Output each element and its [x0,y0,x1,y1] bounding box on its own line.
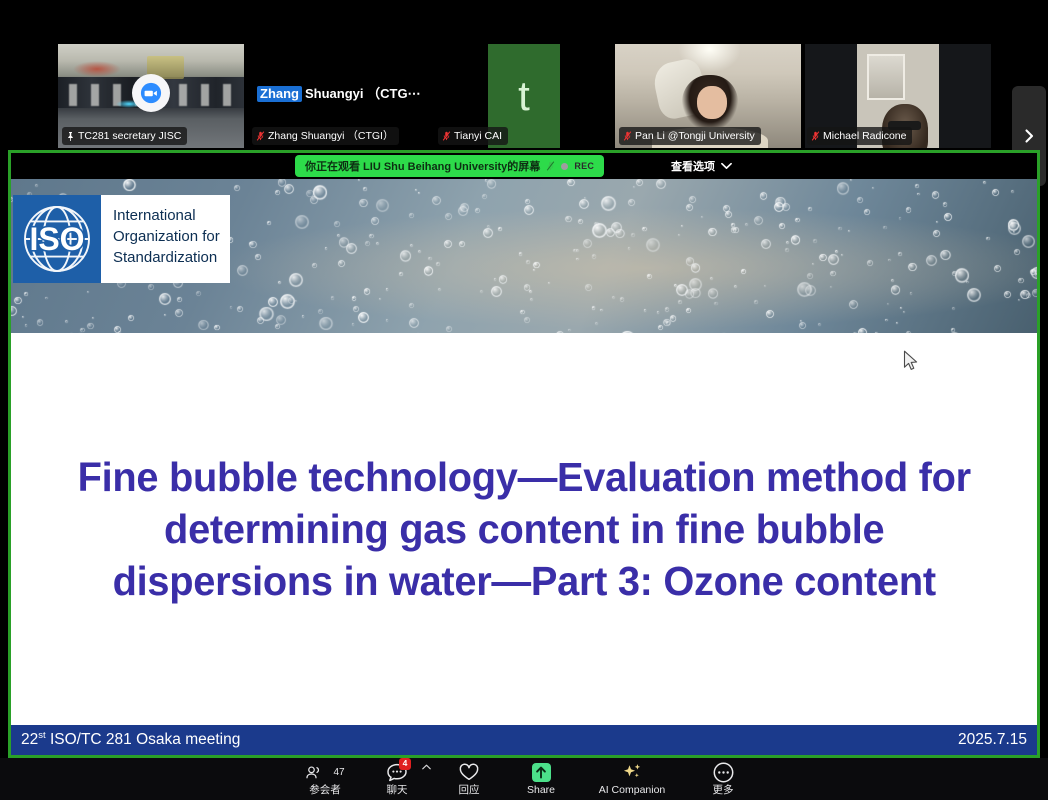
bubble [1020,290,1030,300]
video-filmstrip: TC281 secretary JISC Zhang Shuangyi （CTG… [0,40,1048,152]
bubble [295,300,297,302]
bubble [986,237,990,241]
toolbar-ai-companion-label: AI Companion [599,784,666,796]
bubble [302,315,304,317]
bubble [952,307,955,310]
mic-muted-icon [811,130,820,142]
bubble [674,284,677,287]
bubble [903,311,905,313]
iso-logo-mark: ISO [13,195,101,283]
bubble [601,196,616,211]
bubble [835,250,838,253]
bubble [459,241,465,247]
bubble [376,199,389,212]
bubble [936,221,938,223]
bubble [578,219,583,224]
bubble [795,218,799,222]
bubble [841,254,843,256]
tile-name-text: Tianyi CAI [454,129,502,143]
bubble [436,262,440,266]
bubble [400,250,411,261]
bubble [872,187,874,189]
bubble [249,242,252,245]
bubble [369,234,373,238]
bubble [867,260,873,266]
svg-text:ISO: ISO [29,221,84,257]
presentation-slide: ISO International Organization for Stand… [11,179,1037,755]
view-options-button[interactable]: 查看选项 [661,155,742,177]
bubble [331,296,334,299]
bubble [642,227,646,231]
bubble [339,237,350,248]
bubble [278,281,281,284]
bubble [480,290,483,293]
slide-footer-left: 22st ISO/TC 281 Osaka meeting [21,730,240,749]
active-speaker-name: Zhang Shuangyi （CTG⋯ [252,84,426,104]
bubble [733,227,739,233]
bubble [267,221,271,225]
slide-footer-date: 2025.7.15 [958,731,1027,749]
bubble [657,311,659,313]
bubble [628,199,636,207]
bubble [883,226,887,230]
bubble [708,288,718,298]
bubble [128,315,134,321]
bubble [237,306,243,312]
bubble [237,265,248,276]
zoom-meeting-window: TC281 secretary JISC Zhang Shuangyi （CTG… [0,0,1048,800]
bubble [520,310,524,314]
iso-logo: ISO International Organization for Stand… [13,195,230,283]
bubble [353,306,359,312]
bubble [926,255,937,266]
toolbar-reactions-label: 回应 [459,784,480,796]
bubble [899,217,902,220]
toolbar-more-label: 更多 [713,784,734,796]
bubble [409,318,419,328]
chat-unread-badge: 4 [399,758,411,770]
face [697,86,727,119]
bubble [631,233,635,237]
bubble [864,209,870,215]
bubble [644,309,646,311]
bubble [445,213,452,220]
bubble [994,265,1002,273]
bubble [494,278,497,281]
bubble [418,192,420,194]
bubble [665,307,670,312]
bubble [92,317,94,319]
bubble [14,297,21,304]
bubble [352,296,357,301]
bubble [992,189,999,196]
bubble [579,199,590,210]
bubble [310,196,318,204]
bubble [741,269,746,274]
slide-body: Fine bubble technology—Evaluation method… [11,333,1037,725]
bubble [710,277,714,281]
bubble [887,303,890,306]
bubble [519,252,523,256]
bubble [259,307,274,322]
bubble [1032,289,1037,297]
bubble [754,300,758,304]
bubble [1011,190,1014,193]
toolbar-reactions-button[interactable]: 回应 [433,758,505,800]
bubble [524,205,534,215]
bubble [334,221,341,228]
bubble [268,297,278,307]
bubble [656,179,666,189]
bubble [940,250,951,261]
video-tile-tc281-secretary[interactable]: TC281 secretary JISC [58,44,244,148]
bubble [850,179,852,181]
bubble [615,229,625,239]
bubble [87,291,89,293]
bubble [966,281,968,283]
bubble [363,187,367,191]
bubble [583,239,592,248]
video-tile-michael-radicone[interactable]: Michael Radicone [805,44,991,148]
bubble [906,207,912,213]
bubble [849,300,858,309]
chevron-up-icon[interactable] [422,764,431,770]
bubble [620,297,624,301]
bubble [592,254,596,258]
bubble [1014,249,1020,255]
active-speaker-rest: Shuangyi （CTG⋯ [305,87,421,101]
bubble [600,309,603,312]
bubble [766,310,774,318]
bubble [37,319,44,326]
bubble [409,303,414,308]
bubble [198,320,208,330]
bubble [898,252,902,256]
mic-muted-icon [442,130,451,142]
bubble [399,272,402,275]
bubble [900,307,902,309]
tile-name-text: Pan Li @Tongji University [635,129,755,143]
tile-name-text: Michael Radicone [823,129,906,143]
bubble [837,182,849,194]
tile-name-chip: Zhang Shuangyi （CTGI） [252,127,399,145]
bubble [764,285,766,287]
bubble [819,254,826,261]
recording-dot-icon [561,163,568,170]
toolbar-chat-button[interactable]: 4 聊天 [361,758,433,800]
bubble [576,249,579,252]
bubble [807,273,813,279]
bubble [943,202,947,206]
bubble [533,262,540,269]
bubble [524,284,531,291]
mouse-cursor [903,350,919,372]
bubble [529,290,532,293]
recording-label: REC [574,161,594,171]
toolbar-ai-companion-button[interactable]: AI Companion [577,758,687,800]
tile-name-chip: TC281 secretary JISC [62,127,187,145]
bubble [458,206,468,216]
bubble [915,184,919,188]
zoom-logo-badge [132,74,170,112]
bubble [896,322,898,324]
ai-companion-icon [620,763,644,782]
bubble [584,197,586,199]
bubble [690,288,700,298]
bubble [337,234,341,238]
toolbar-chat-label: 聊天 [387,784,408,796]
video-tile-tianyi-cai[interactable]: t Tianyi CAI [420,44,616,148]
bubble [628,247,631,250]
bubble [910,292,913,295]
bubble [371,217,379,225]
bubble [415,189,417,191]
bubble [967,288,981,302]
bubble [678,234,680,236]
bubble [908,263,916,271]
bubble [80,328,84,332]
meeting-number: 22 [21,732,38,749]
bubble [725,211,732,218]
bubble [526,260,529,263]
chat-icon: 4 [386,763,408,782]
toolbar-share-label: Share [527,784,555,796]
wall-picture [867,54,905,100]
bubble [524,317,530,323]
tile-name-chip: Michael Radicone [807,127,912,145]
bubble [813,239,817,243]
shared-screen-container: 你正在观看 LIU Shu Beihang University的屏幕 REC … [8,150,1040,758]
bubble [352,323,354,325]
bubble [838,227,841,230]
bubble [658,325,663,330]
bubble [708,228,717,237]
up-arrow-icon [535,766,547,779]
bubble [1018,278,1024,284]
toolbar-share-button[interactable]: Share [505,758,577,800]
bubble [482,194,488,200]
bubble [592,223,607,238]
zoom-camera-icon [140,82,162,104]
chevron-down-icon [721,162,732,170]
toolbar-participants-label: 参会者 [309,784,341,796]
bubble [446,326,452,332]
bubble [885,319,888,322]
bubble [1018,299,1021,302]
toolbar-participants-button[interactable]: 47 参会者 [289,758,361,800]
bubble [432,196,441,205]
bubble [689,196,696,203]
bubble [686,257,694,265]
bubble [234,185,240,191]
bubble [491,286,502,297]
meeting-number-suffix: st [38,730,45,741]
bubble [568,329,570,331]
bubble [338,260,345,267]
bubble [284,184,294,194]
bubble [318,309,324,315]
bubble [786,241,790,245]
view-options-label: 查看选项 [671,158,715,174]
bubble [828,254,839,265]
video-tile-pan-li[interactable]: Pan Li @Tongji University [615,44,801,148]
slide-footer: 22st ISO/TC 281 Osaka meeting 2025.7.15 [11,725,1037,755]
bubble [276,315,286,325]
bubble [418,250,421,253]
bubble [576,258,579,261]
bubble [35,184,38,187]
bubble [592,306,596,310]
bubble [312,263,317,268]
bubble [475,208,481,214]
bubble [410,244,413,247]
bubble [774,202,784,212]
bubble [325,247,327,249]
bubble [428,257,432,261]
bubble [646,238,660,252]
slide-title: Fine bubble technology—Evaluation method… [56,451,992,607]
tile-name-chip: Pan Li @Tongji University [619,127,761,145]
bubble [159,293,171,305]
bubble [891,285,901,295]
bubble [567,179,574,186]
bubble [565,216,571,222]
bubble [123,179,136,191]
bubble [379,298,381,300]
bubble [424,266,434,276]
bubble [177,297,182,302]
bubble [358,179,360,181]
bubble [917,193,920,196]
bubble [364,288,371,295]
bubble [754,216,763,225]
bubble [214,325,220,331]
bubble [701,216,703,218]
bubble [734,285,737,288]
participants-icon: 47 [305,763,344,782]
bubble [686,308,691,313]
bubble [87,323,94,330]
share-toolbar: 你正在观看 LIU Shu Beihang University的屏幕 REC … [11,153,1037,179]
bubble [857,197,864,204]
bubble [745,223,748,226]
bubble [386,288,388,290]
bubble [275,324,280,329]
bubble [438,288,441,291]
bubble [1008,222,1022,236]
bubble [533,269,535,271]
bubble [365,241,370,246]
pin-icon [66,131,75,142]
bubble [891,279,894,282]
bubble [359,199,367,207]
bubble [295,215,309,229]
bubble [714,302,718,306]
bubble [11,306,17,316]
bubble [785,248,789,252]
tile-name-text: TC281 secretary JISC [78,129,181,143]
bubble [164,314,166,316]
bubble [952,271,957,276]
bubble [148,284,154,290]
bubble [812,263,814,265]
bubble [275,190,281,196]
mic-muted-icon [623,130,632,142]
toolbar-more-button[interactable]: 更多 [687,758,759,800]
bubble [761,239,771,249]
bubble [760,192,768,200]
bubble [932,191,940,199]
bubble [409,213,414,218]
zoom-toolbar: 47 参会者 4 聊天 [0,758,1048,800]
tile-name-chip: Tianyi CAI [438,127,508,145]
bubble [175,309,183,317]
bubble [358,312,369,323]
participants-count: 47 [333,767,344,778]
bubble [606,228,615,237]
bubble [678,300,682,304]
bubble [808,207,812,211]
bubble [25,324,28,327]
bubble [483,228,493,238]
share-screen-icon [532,763,551,782]
slide-hero-banner: ISO International Organization for Stand… [11,179,1037,333]
tile-name-text: Zhang Shuangyi （CTGI） [268,129,393,143]
share-icon-square [532,763,551,782]
bubble [951,328,955,332]
more-icon [713,763,734,782]
bubble [1022,235,1035,248]
bubble [612,296,615,299]
sharing-status-banner: 你正在观看 LIU Shu Beihang University的屏幕 REC [295,155,604,177]
bubble [681,225,683,227]
bubble [805,285,817,297]
iso-logo-text: International Organization for Standardi… [101,195,230,283]
bubble [444,240,452,248]
meeting-name: ISO/TC 281 Osaka meeting [46,732,241,749]
bubble [670,315,677,322]
bubble [779,223,785,229]
mic-muted-icon [546,160,555,172]
avatar-letter: t [518,75,530,117]
bubble [487,179,497,189]
bubble [818,323,821,326]
bubble [530,298,533,301]
bubble [944,213,952,221]
bubble [799,322,806,329]
bubble [830,286,832,288]
bubble [1004,291,1011,298]
bubble [196,291,201,296]
bubble [595,322,598,325]
bubble [525,199,531,205]
bubble [633,186,635,188]
bubble [983,181,986,184]
bubble [888,259,891,262]
bubble [791,235,801,245]
reactions-icon [458,763,480,782]
bubble [686,204,693,211]
bubble [498,227,502,231]
bubble [636,179,643,186]
mic-muted-icon [256,130,265,142]
bubble [22,316,24,318]
bubble [45,297,47,299]
bubble [848,230,850,232]
bubble [548,282,550,284]
bubble [386,319,388,321]
chevron-right-icon [1021,128,1037,144]
